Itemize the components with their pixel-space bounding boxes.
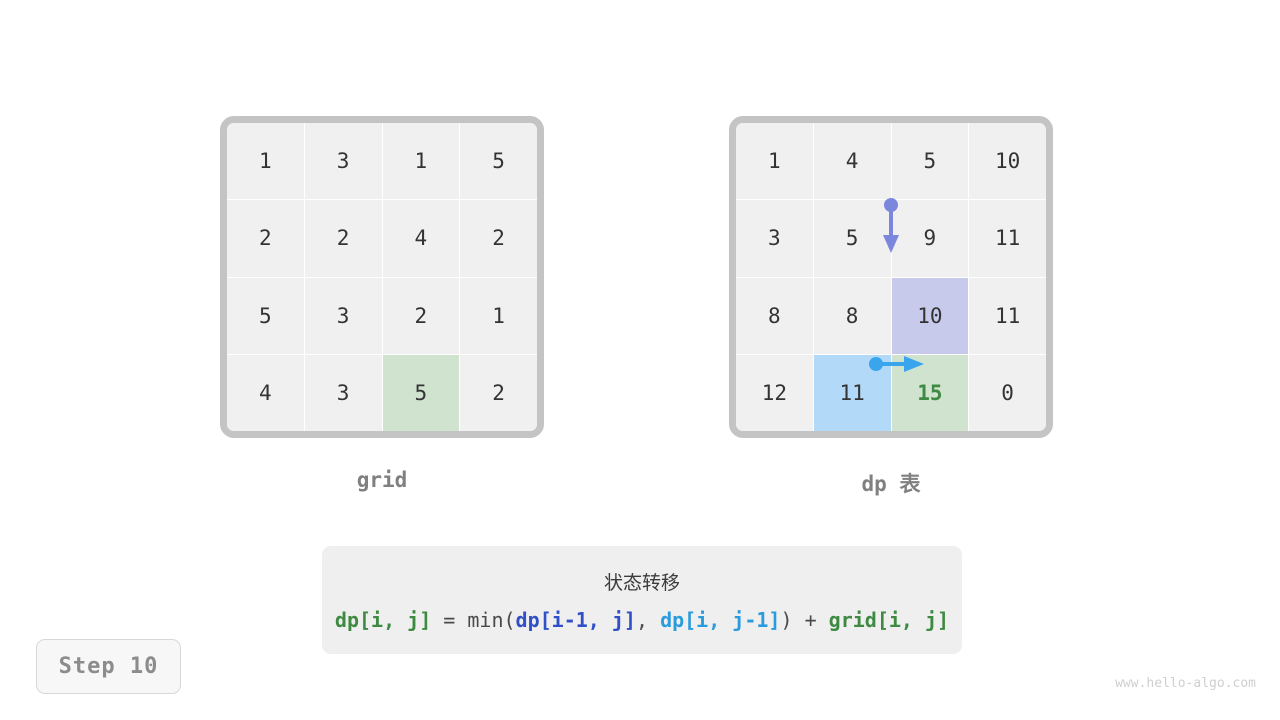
dp-cell-3-1: 11 (814, 355, 891, 431)
cell-value: 2 (337, 226, 350, 250)
grid-cell-1-2: 4 (383, 200, 460, 276)
grid-cell-0-1: 3 (305, 123, 382, 199)
grid-matrix: 1315224253214352 (220, 116, 544, 438)
cell-value: 1 (768, 149, 781, 173)
cell-value: 11 (995, 304, 1020, 328)
cell-value: 0 (1001, 381, 1014, 405)
formula-token-3: , (636, 608, 660, 632)
grid-cell-2-3: 1 (460, 278, 537, 354)
cell-value: 5 (492, 149, 505, 173)
cell-value: 12 (762, 381, 787, 405)
cell-value: 11 (839, 381, 864, 405)
dp-caption: dp 表 (729, 468, 1053, 498)
grid-cell-3-3: 2 (460, 355, 537, 431)
cell-value: 4 (415, 226, 428, 250)
dp-cell-2-2: 10 (892, 278, 969, 354)
formula-panel: 状态转移 dp[i, j] = min(dp[i-1, j], dp[i, j-… (322, 546, 962, 654)
cell-value: 10 (917, 304, 942, 328)
dp-cell-3-0: 12 (736, 355, 813, 431)
grid-cell-3-0: 4 (227, 355, 304, 431)
dp-cell-0-0: 1 (736, 123, 813, 199)
formula-title: 状态转移 (604, 568, 680, 595)
cell-value: 5 (259, 304, 272, 328)
grid-cell-3-1: 3 (305, 355, 382, 431)
dp-cell-2-0: 8 (736, 278, 813, 354)
cell-value: 15 (917, 381, 942, 405)
dp-cell-1-3: 11 (969, 200, 1046, 276)
dp-cell-1-2: 9 (892, 200, 969, 276)
cell-value: 5 (924, 149, 937, 173)
grid-cell-0-2: 1 (383, 123, 460, 199)
cell-value: 3 (337, 304, 350, 328)
dp-cell-0-3: 10 (969, 123, 1046, 199)
formula-token-1: = min( (431, 608, 515, 632)
grid-cell-0-0: 1 (227, 123, 304, 199)
grid-cell-2-1: 3 (305, 278, 382, 354)
step-badge: Step 10 (36, 639, 181, 694)
formula-token-5: ) + (780, 608, 828, 632)
dp-cell-1-0: 3 (736, 200, 813, 276)
cell-value: 9 (924, 226, 937, 250)
dp-cell-1-1: 5 (814, 200, 891, 276)
dp-cell-2-1: 8 (814, 278, 891, 354)
cell-value: 5 (846, 226, 859, 250)
grid-cell-1-0: 2 (227, 200, 304, 276)
formula-token-4: dp[i, j-1] (660, 608, 780, 632)
grid-caption: grid (220, 468, 544, 492)
dp-cell-2-3: 11 (969, 278, 1046, 354)
watermark: www.hello-algo.com (1115, 676, 1256, 691)
cell-value: 3 (337, 149, 350, 173)
cell-value: 10 (995, 149, 1020, 173)
formula-token-0: dp[i, j] (335, 608, 431, 632)
grid-cell-1-3: 2 (460, 200, 537, 276)
cell-value: 8 (768, 304, 781, 328)
grid-cell-2-0: 5 (227, 278, 304, 354)
dp-cell-0-2: 5 (892, 123, 969, 199)
cell-value: 1 (492, 304, 505, 328)
cell-value: 2 (415, 304, 428, 328)
cell-value: 1 (415, 149, 428, 173)
cell-value: 1 (259, 149, 272, 173)
cell-value: 2 (492, 226, 505, 250)
cell-value: 5 (415, 381, 428, 405)
grid-cell-2-2: 2 (383, 278, 460, 354)
formula-token-6: grid[i, j] (829, 608, 949, 632)
dp-cell-0-1: 4 (814, 123, 891, 199)
formula-token-2: dp[i-1, j] (516, 608, 636, 632)
grid-cell-1-1: 2 (305, 200, 382, 276)
cell-value: 4 (259, 381, 272, 405)
cell-value: 3 (337, 381, 350, 405)
cell-value: 2 (259, 226, 272, 250)
grid-cell-0-3: 5 (460, 123, 537, 199)
cell-value: 8 (846, 304, 859, 328)
grid-cell-3-2: 5 (383, 355, 460, 431)
dp-cell-3-3: 0 (969, 355, 1046, 431)
cell-value: 4 (846, 149, 859, 173)
cell-value: 3 (768, 226, 781, 250)
cell-value: 2 (492, 381, 505, 405)
formula-body: dp[i, j] = min(dp[i-1, j], dp[i, j-1]) +… (335, 608, 949, 632)
dp-cell-3-2: 15 (892, 355, 969, 431)
dp-matrix: 14510359118810111211150 (729, 116, 1053, 438)
cell-value: 11 (995, 226, 1020, 250)
